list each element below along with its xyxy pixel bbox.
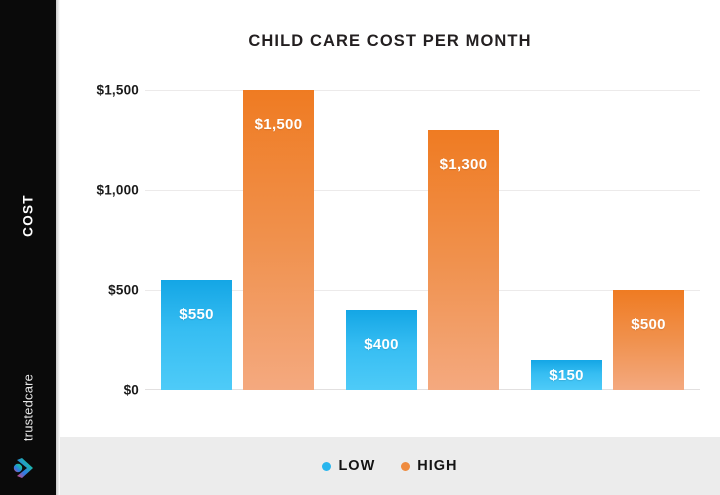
- chart-panel: CHILD CARE COST PER MONTH $0$500$1,000$1…: [60, 0, 720, 435]
- legend-item-high[interactable]: HIGH: [401, 458, 457, 474]
- legend-label: HIGH: [417, 458, 457, 474]
- legend-label: LOW: [338, 458, 375, 474]
- bar-value-label: $500: [613, 316, 684, 333]
- chevron-logo-icon: [13, 455, 43, 481]
- plot-area: $0$500$1,000$1,500$550$1,500INFANT$400$1…: [145, 90, 700, 390]
- bar-high-toddler[interactable]: $1,300: [428, 130, 499, 390]
- legend-band: LOWHIGH: [60, 437, 720, 495]
- chart-screenshot: COST trustedcare CHILD CARE COST PER MON…: [0, 0, 720, 495]
- sidebar-rail: COST trustedcare: [0, 0, 56, 495]
- gridline: [145, 90, 700, 91]
- bar-low-infant[interactable]: $550: [161, 280, 232, 390]
- chart-legend: LOWHIGH: [60, 437, 720, 495]
- legend-dot-icon: [401, 462, 410, 471]
- bar-low-toddler[interactable]: $400: [346, 310, 417, 390]
- chart-title: CHILD CARE COST PER MONTH: [60, 32, 720, 51]
- sidebar-divider: [56, 0, 60, 495]
- y-axis-title: COST: [21, 164, 36, 268]
- bar-high-infant[interactable]: $1,500: [243, 90, 314, 390]
- bar-value-label: $550: [161, 306, 232, 323]
- legend-item-low[interactable]: LOW: [322, 458, 375, 474]
- bar-value-label: $150: [531, 367, 602, 384]
- gridline: [145, 190, 700, 191]
- legend-dot-icon: [322, 462, 331, 471]
- bar-value-label: $1,300: [428, 156, 499, 173]
- bar-high-school-aged[interactable]: $500: [613, 290, 684, 390]
- bar-value-label: $1,500: [243, 116, 314, 133]
- bar-value-label: $400: [346, 336, 417, 353]
- bar-low-school-aged[interactable]: $150: [531, 360, 602, 390]
